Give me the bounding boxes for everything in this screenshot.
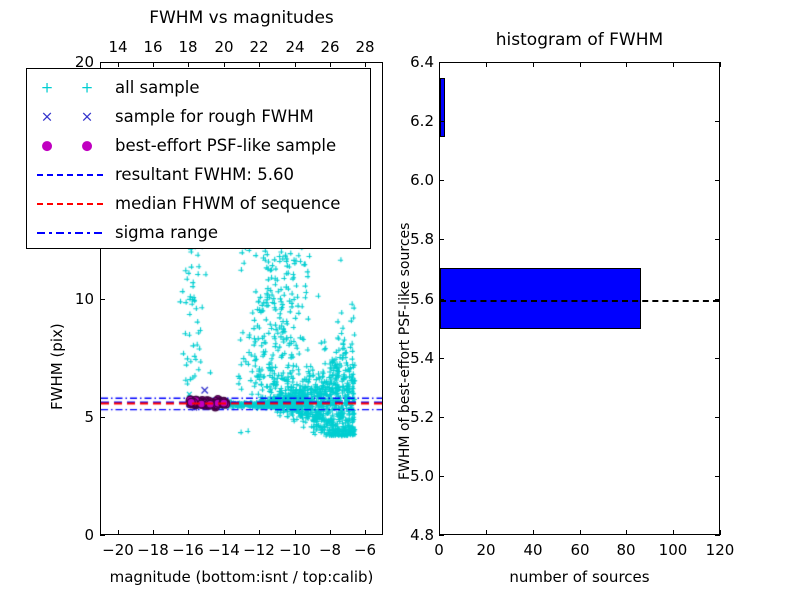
axis-tick xyxy=(439,535,444,536)
top-tick-label: 20 xyxy=(214,38,233,56)
right-y-axis-label: FWHM of best-effort PSF-like sources xyxy=(397,223,413,480)
legend-handle: ●● xyxy=(27,131,115,160)
legend-handle xyxy=(27,218,115,247)
axis-tick xyxy=(715,358,720,359)
top-tick-label: 16 xyxy=(143,38,162,56)
top-tick-label: 24 xyxy=(285,38,304,56)
left-plot-title: FWHM vs magnitudes xyxy=(100,8,383,28)
histogram-axes xyxy=(439,62,720,535)
axis-tick xyxy=(673,62,674,67)
right-x-tick-label: 0 xyxy=(434,541,444,559)
axis-tick xyxy=(330,530,331,535)
left-y-tick-label: 5 xyxy=(60,408,94,426)
axis-tick xyxy=(439,476,444,477)
axis-tick xyxy=(295,530,296,535)
legend-item-3: resultant FWHM: 5.60 xyxy=(27,160,370,189)
axis-tick xyxy=(100,62,105,63)
plus-marker-icon: + xyxy=(81,80,94,95)
axis-tick xyxy=(365,62,366,67)
cross-marker-icon: × xyxy=(41,109,54,124)
axis-tick xyxy=(626,530,627,535)
axis-tick xyxy=(715,417,720,418)
legend-item-0: ++all sample xyxy=(27,73,370,102)
axis-tick xyxy=(153,62,154,67)
top-tick-label: 28 xyxy=(355,38,374,56)
bottom-tick-label: −18 xyxy=(137,541,169,559)
axis-tick xyxy=(439,239,444,240)
left-y-axis-label: FWHM (pix) xyxy=(48,323,66,410)
right-x-axis-label: number of sources xyxy=(439,568,720,586)
axis-tick xyxy=(580,62,581,67)
axis-tick xyxy=(715,299,720,300)
legend-handle: ×× xyxy=(27,102,115,131)
plus-marker-icon: + xyxy=(41,80,54,95)
legend-line-sample xyxy=(37,232,103,234)
bottom-tick-label: −8 xyxy=(319,541,341,559)
legend-box: ++all sample××sample for rough FWHM●●bes… xyxy=(26,68,371,249)
axis-tick xyxy=(580,530,581,535)
legend-item-4: median FHWM of sequence xyxy=(27,189,370,218)
axis-tick xyxy=(715,535,720,536)
axis-tick xyxy=(100,535,105,536)
right-y-tick-label: 6.0 xyxy=(392,171,434,189)
axis-tick xyxy=(224,530,225,535)
bottom-tick-label: −20 xyxy=(102,541,134,559)
top-tick-label: 26 xyxy=(320,38,339,56)
legend-handle xyxy=(27,189,115,218)
axis-tick xyxy=(533,62,534,67)
bottom-tick-label: −12 xyxy=(243,541,275,559)
axis-tick xyxy=(188,62,189,67)
top-tick-label: 22 xyxy=(249,38,268,56)
bottom-tick-label: −6 xyxy=(354,541,376,559)
legend-label: all sample xyxy=(115,78,200,97)
right-y-tick-label: 4.8 xyxy=(392,526,434,544)
axis-tick xyxy=(626,62,627,67)
legend-label: sample for rough FWHM xyxy=(115,107,314,126)
legend-handle xyxy=(27,160,115,189)
axis-tick xyxy=(153,530,154,535)
bottom-tick-label: −16 xyxy=(172,541,204,559)
legend-line-sample xyxy=(37,203,103,205)
axis-tick xyxy=(673,530,674,535)
legend-line-sample xyxy=(37,174,103,176)
axis-tick xyxy=(439,180,444,181)
top-tick-label: 14 xyxy=(108,38,127,56)
axis-tick xyxy=(118,62,119,67)
legend-label: resultant FWHM: 5.60 xyxy=(115,165,294,184)
legend-label: median FHWM of sequence xyxy=(115,194,340,213)
legend-item-1: ××sample for rough FWHM xyxy=(27,102,370,131)
axis-tick xyxy=(715,62,720,63)
right-x-tick-label: 120 xyxy=(706,541,735,559)
axis-tick xyxy=(533,530,534,535)
axis-tick xyxy=(720,62,721,67)
circle-marker-icon: ● xyxy=(81,139,92,152)
left-y-tick-label: 10 xyxy=(60,290,94,308)
axis-tick xyxy=(259,62,260,67)
axis-tick xyxy=(720,530,721,535)
bottom-tick-label: −10 xyxy=(279,541,311,559)
axis-tick xyxy=(715,121,720,122)
histogram-bar xyxy=(440,78,445,137)
right-y-tick-label: 6.2 xyxy=(392,112,434,130)
legend-label: sigma range xyxy=(115,223,218,242)
axis-tick xyxy=(118,530,119,535)
circle-marker-icon: ● xyxy=(41,139,52,152)
axis-tick xyxy=(188,530,189,535)
right-x-tick-label: 20 xyxy=(476,541,495,559)
axis-tick xyxy=(439,62,444,63)
right-x-tick-label: 80 xyxy=(616,541,635,559)
left-x-axis-label: magnitude (bottom:isnt / top:calib) xyxy=(100,568,383,586)
legend-handle: ++ xyxy=(27,73,115,102)
left-y-tick-label: 0 xyxy=(60,526,94,544)
axis-tick xyxy=(439,358,444,359)
legend-item-5: sigma range xyxy=(27,218,370,247)
right-x-tick-label: 60 xyxy=(570,541,589,559)
axis-tick xyxy=(259,530,260,535)
axis-tick xyxy=(486,530,487,535)
legend-label: best-effort PSF-like sample xyxy=(115,136,336,155)
axis-tick xyxy=(439,121,444,122)
axis-tick xyxy=(486,62,487,67)
legend-item-2: ●●best-effort PSF-like sample xyxy=(27,131,370,160)
axis-tick xyxy=(100,417,105,418)
axis-tick xyxy=(439,299,444,300)
cross-marker-icon: × xyxy=(81,109,94,124)
right-plot-title: histogram of FWHM xyxy=(439,30,720,50)
figure-canvas: FWHM vs magnitudes 1416182022242628 −20−… xyxy=(0,0,800,600)
right-x-tick-label: 40 xyxy=(523,541,542,559)
axis-tick xyxy=(439,417,444,418)
axis-tick xyxy=(224,62,225,67)
axis-tick xyxy=(100,299,105,300)
right-x-tick-label: 100 xyxy=(659,541,688,559)
bottom-tick-label: −14 xyxy=(208,541,240,559)
axis-tick xyxy=(715,476,720,477)
axis-tick xyxy=(330,62,331,67)
histogram-resultant-fwhm-line xyxy=(440,300,719,302)
right-y-tick-label: 6.4 xyxy=(392,53,434,71)
axis-tick xyxy=(365,530,366,535)
axis-tick xyxy=(715,239,720,240)
axis-tick xyxy=(295,62,296,67)
top-tick-label: 18 xyxy=(178,38,197,56)
axis-tick xyxy=(715,180,720,181)
